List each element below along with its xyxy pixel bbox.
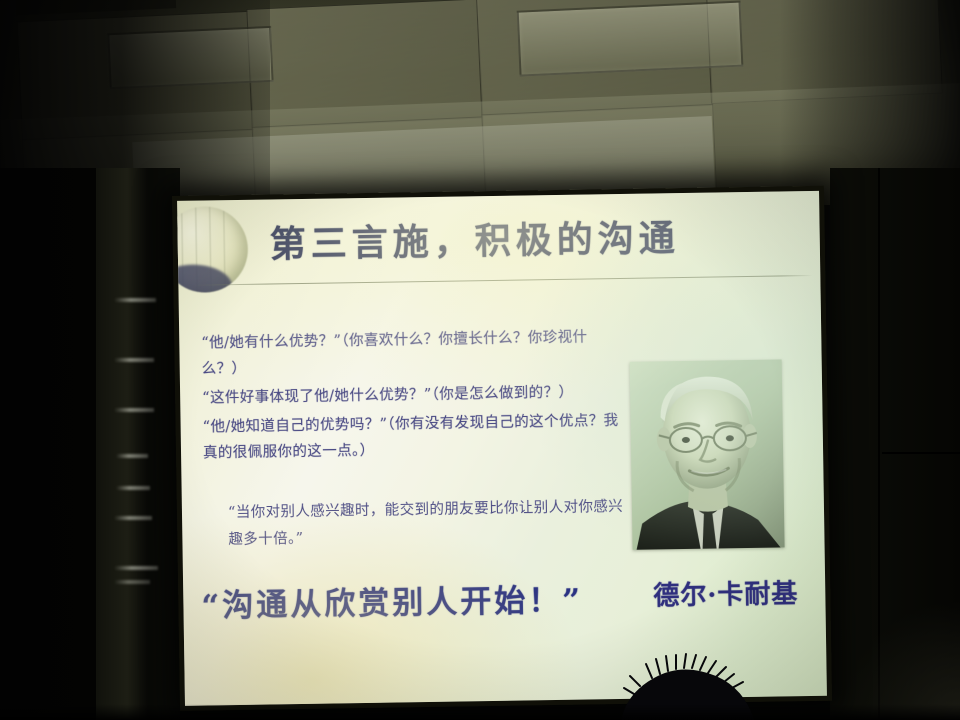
slide-inner-quote: “当你对别人感兴趣时，能交到的朋友要比你让别人对你感兴趣多十倍。” <box>228 494 629 554</box>
slide-bullet: “他/她有什么优势？”（你喜欢什么？你擅长什么？你珍视什么？） <box>201 324 622 383</box>
slide-bullet: “他/她知道自己的优势吗？”（你有没有发现自己的这个优点？我真的很佩服你的这一点… <box>202 408 623 467</box>
light-streak <box>114 580 150 584</box>
light-streak <box>114 298 156 302</box>
light-streak <box>114 516 152 520</box>
light-streak <box>114 358 154 362</box>
light-streak <box>114 566 158 570</box>
slide-attribution: 德尔·卡耐基 <box>653 573 799 612</box>
screen-frame: 第三言施，积极的沟通 “他/她有什么优势？”（你喜欢什么？你擅长什么？你珍视什么… <box>172 186 832 711</box>
slide-headline: “沟通从欣赏别人开始！” <box>201 575 583 626</box>
projected-slide-photo: 第三言施，积极的沟通 “他/她有什么优势？”（你喜欢什么？你擅长什么？你珍视什么… <box>0 0 960 720</box>
slide-title: 第三言施，积极的沟通 <box>269 207 790 267</box>
bottom-shadow <box>0 704 960 720</box>
left-dark-wall <box>0 168 180 720</box>
globe-icon <box>177 206 248 293</box>
slide-bullet: “这件好事体现了他/她什么优势？”（你是怎么做到的？） <box>202 379 622 412</box>
projection-screen: 第三言施，积极的沟通 “他/她有什么优势？”（你喜欢什么？你擅长什么？你珍视什么… <box>172 186 832 711</box>
light-streak <box>116 454 148 458</box>
title-divider <box>192 275 812 286</box>
recessed-light-fixture <box>517 1 744 77</box>
wall-seam <box>882 452 960 454</box>
dale-carnegie-portrait <box>630 359 785 549</box>
light-streak <box>116 486 150 490</box>
left-wall-post <box>96 168 148 720</box>
slide-bullet-list: “他/她有什么优势？”（你喜欢什么？你擅长什么？你珍视什么？） “这件好事体现了… <box>201 324 623 470</box>
foreground-object <box>840 600 960 720</box>
presentation-slide: 第三言施，积极的沟通 “他/她有什么优势？”（你喜欢什么？你擅长什么？你珍视什么… <box>177 191 827 706</box>
light-streak <box>114 408 154 412</box>
